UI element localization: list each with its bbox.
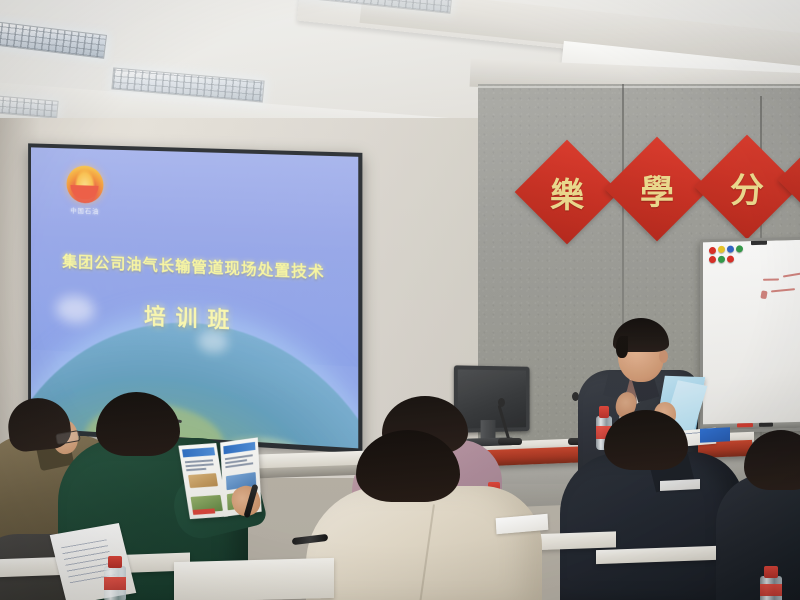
whiteboard-clip — [751, 237, 767, 245]
attendee-torso — [716, 474, 800, 600]
whiteboard-writing — [761, 274, 800, 303]
magnet-blue[interactable] — [727, 246, 734, 253]
handout-papers — [496, 514, 549, 535]
marker-red[interactable] — [737, 423, 753, 427]
placard-character: 享 — [790, 150, 800, 210]
wall-placard-diamond: 樂 — [515, 140, 620, 245]
microphone-head — [498, 398, 505, 407]
petrochina-logo: 中国石油 — [53, 165, 117, 217]
magnet-yellow[interactable] — [718, 246, 725, 253]
placard-character: 樂 — [530, 155, 604, 229]
sun-emblem-icon — [66, 165, 103, 204]
placard-character: 分 — [710, 150, 784, 224]
magnet-green[interactable] — [736, 245, 743, 252]
projection-screen: 中国石油 集团公司油气长输管道现场处置技术 培训班 — [28, 143, 362, 453]
whiteboard[interactable] — [700, 237, 800, 434]
blue-folder — [700, 427, 730, 443]
presenter-ear — [659, 350, 668, 363]
marker-black[interactable] — [759, 423, 773, 427]
microphone-base — [498, 438, 522, 445]
magnet-red[interactable] — [709, 247, 716, 254]
lcd-monitor — [454, 365, 523, 424]
placard-character: 學 — [620, 152, 694, 226]
handout-papers — [660, 479, 700, 491]
projected-slide: 中国石油 集团公司油气长输管道现场处置技术 培训班 — [31, 147, 358, 448]
water-bottle — [104, 556, 126, 600]
panel-seam — [478, 86, 800, 88]
jacket-seam — [419, 504, 435, 600]
classroom-table — [174, 558, 334, 600]
photo-scene: 樂 學 分 享 — [0, 0, 800, 600]
magnet-red[interactable] — [709, 256, 716, 263]
water-bottle — [760, 566, 782, 600]
wall-placard-diamond: 學 — [605, 137, 710, 242]
magnet-red[interactable] — [727, 256, 734, 263]
attendee-torso — [306, 486, 542, 600]
magnet-green[interactable] — [718, 256, 725, 263]
